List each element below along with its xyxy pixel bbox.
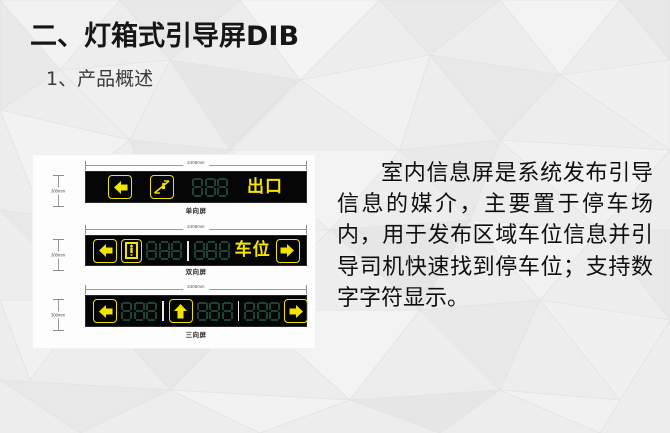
elevator-icon <box>121 239 142 263</box>
height-dimension-label-3: 300mm <box>42 312 74 319</box>
seven-segment-digit <box>194 241 205 260</box>
seven-segment-digit <box>219 241 230 260</box>
height-dimension-1: 300mm <box>45 175 71 207</box>
slide-heading-block: 二、灯箱式引导屏DIB 1、产品概述 <box>0 22 670 91</box>
led-board-two-way: 车位 <box>85 235 307 266</box>
board-text-parking: 车位 <box>235 242 271 259</box>
seven-segment-digit <box>206 241 217 260</box>
seven-segment-digit <box>192 178 203 197</box>
seven-segment-digit <box>146 302 157 321</box>
width-dimension-2: 2405mm <box>85 225 307 234</box>
seven-segment-digit <box>159 241 170 260</box>
board-text-exit: 出口 <box>247 179 283 196</box>
board-divider <box>238 301 240 321</box>
page-subtitle: 1、产品概述 <box>0 64 670 91</box>
height-dimension-3: 300mm <box>45 299 71 331</box>
arrow-up-icon <box>169 299 193 323</box>
screen-caption-two-way: 双向屏 <box>85 266 307 276</box>
seven-segment-digit <box>209 302 220 321</box>
board-divider <box>162 301 164 321</box>
width-dimension-label-3: 2405mm <box>183 283 209 291</box>
seven-segment-digit <box>171 241 182 260</box>
product-description: 室内信息屏是系统发布引导信息的媒介，主要置于停车场内，用于发布区域车位信息并引导… <box>337 158 653 314</box>
seven-segment-digit <box>197 302 208 321</box>
screen-diagram-two-way: 2405mm 300mm <box>33 219 315 279</box>
segment-display-3a <box>121 302 157 321</box>
height-dimension-label-1: 300mm <box>42 188 74 195</box>
seven-segment-digit <box>217 178 228 197</box>
width-dimension-3: 2405mm <box>85 285 307 294</box>
product-illustration-panel: 2405mm 300mm <box>33 155 315 348</box>
arrow-left-icon <box>93 299 117 323</box>
seven-segment-digit <box>121 302 132 321</box>
width-dimension-label-2: 2405mm <box>183 223 209 231</box>
board-divider <box>187 241 189 261</box>
seven-segment-digit <box>205 178 216 197</box>
seven-segment-digit <box>134 302 145 321</box>
seven-segment-digit <box>244 302 255 321</box>
arrow-right-icon <box>284 299 308 323</box>
seven-segment-digit <box>257 302 268 321</box>
screen-caption-one-way: 单向屏 <box>85 205 307 215</box>
width-dimension-label-1: 2405mm <box>183 159 209 167</box>
segment-display-1 <box>192 178 228 197</box>
screen-diagram-three-way: 2405mm 300mm <box>33 279 315 345</box>
arrow-left-icon <box>93 239 117 263</box>
height-dimension-2: 300mm <box>45 239 71 271</box>
screen-diagram-one-way: 2405mm 300mm <box>33 155 315 219</box>
segment-display-3b <box>197 302 233 321</box>
page-title: 二、灯箱式引导屏DIB <box>0 22 670 52</box>
segment-display-3c <box>244 302 280 321</box>
seven-segment-digit <box>146 241 157 260</box>
led-board-three-way <box>85 295 307 327</box>
segment-display-2a <box>146 241 182 260</box>
arrow-right-icon <box>276 239 300 263</box>
seven-segment-digit <box>269 302 280 321</box>
height-dimension-label-2: 300mm <box>42 252 74 259</box>
width-dimension-1: 2405mm <box>85 161 307 170</box>
escalator-icon <box>150 175 174 199</box>
screen-caption-three-way: 三向屏 <box>85 329 307 339</box>
segment-display-2b <box>194 241 230 260</box>
led-board-one-way: 出口 <box>85 171 307 203</box>
arrow-left-icon <box>108 175 132 199</box>
seven-segment-digit <box>222 302 233 321</box>
